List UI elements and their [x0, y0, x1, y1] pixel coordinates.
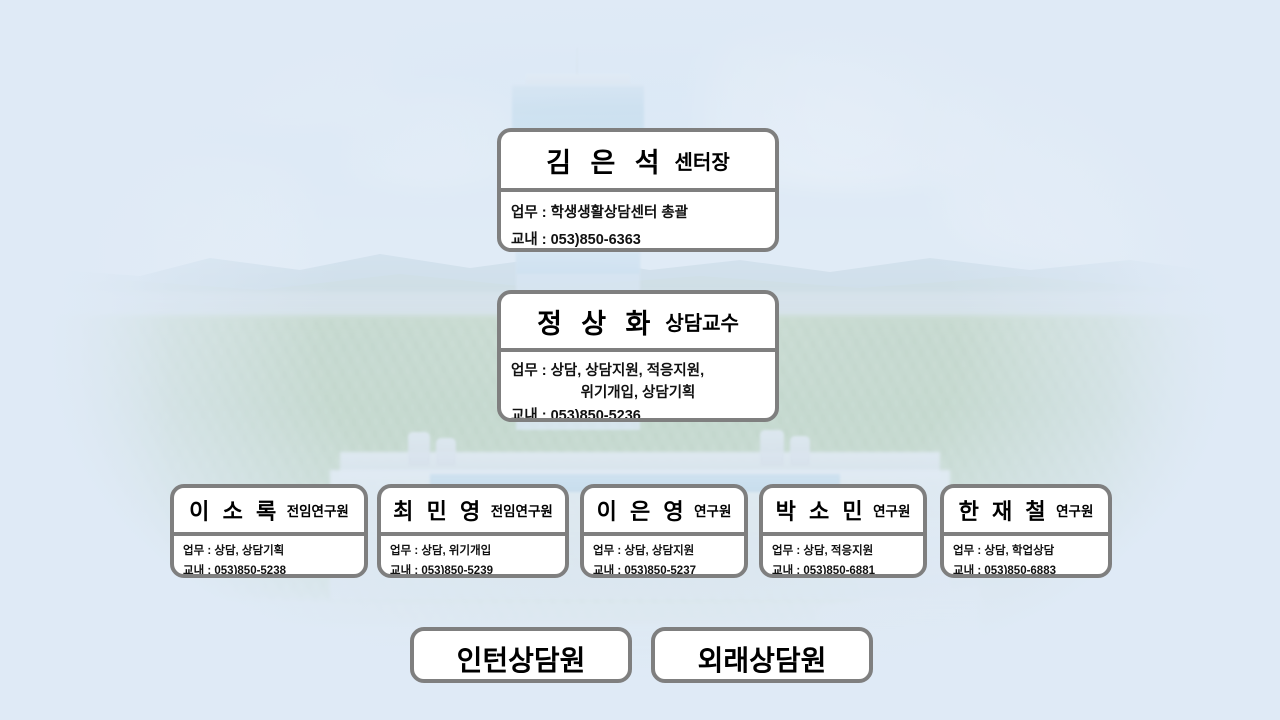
phone-line: 교내 : 053)850-5239 [390, 561, 556, 578]
phone-line: 교내 : 053)850-6363 [511, 227, 765, 252]
org-node-header: 최 민 영 전임연구원 [381, 488, 565, 532]
person-name: 최 민 영 [393, 494, 484, 526]
person-role: 센터장 [675, 146, 730, 175]
person-role: 연구원 [873, 500, 910, 520]
org-node-researcher-3[interactable]: 이 은 영 연구원 업무 : 상담, 상담지원 교내 : 053)850-523… [580, 484, 748, 578]
org-node-details: 업무 : 상담, 위기개입 교내 : 053)850-5239 [381, 536, 565, 578]
org-node-details: 업무 : 상담, 적응지원 교내 : 053)850-6881 [763, 536, 923, 578]
org-node-label: 외래상담원 [655, 631, 869, 683]
org-node-details: 업무 : 상담, 상담지원 교내 : 053)850-5237 [584, 536, 744, 578]
org-node-header: 김 은 석 센터장 [501, 132, 775, 188]
org-node-director[interactable]: 김 은 석 센터장 업무 : 학생생활상담센터 총괄 교내 : 053)850-… [497, 128, 779, 252]
phone-line: 교내 : 053)850-5237 [593, 561, 735, 578]
phone-line: 교내 : 053)850-5236 [511, 405, 765, 422]
person-role: 연구원 [1056, 500, 1093, 520]
person-role: 전임연구원 [287, 500, 349, 520]
duty-line: 업무 : 학생생활상담센터 총괄 [511, 200, 765, 227]
duty-line: 업무 : 상담, 학업상담 [953, 541, 1099, 561]
org-node-intern-counselor[interactable]: 인턴상담원 [410, 627, 632, 683]
person-role: 상담교수 [665, 307, 739, 336]
person-name: 이 소 록 [189, 494, 280, 526]
org-node-header: 이 소 록 전임연구원 [174, 488, 364, 532]
org-node-external-counselor[interactable]: 외래상담원 [651, 627, 873, 683]
org-node-details: 업무 : 학생생활상담센터 총괄 교내 : 053)850-6363 [501, 192, 775, 252]
person-role: 연구원 [694, 500, 731, 520]
org-node-professor[interactable]: 정 상 화 상담교수 업무 : 상담, 상담지원, 적응지원, 위기개입, 상담… [497, 290, 779, 422]
phone-line: 교내 : 053)850-6881 [772, 561, 914, 578]
person-role: 전임연구원 [491, 500, 553, 520]
org-chart-page: 김 은 석 센터장 업무 : 학생생활상담센터 총괄 교내 : 053)850-… [0, 0, 1280, 720]
org-node-header: 정 상 화 상담교수 [501, 294, 775, 348]
org-node-details: 업무 : 상담, 상담지원, 적응지원, 위기개입, 상담기획 교내 : 053… [501, 352, 775, 422]
org-node-details: 업무 : 상담, 상담기획 교내 : 053)850-5238 [174, 536, 364, 578]
phone-line: 교내 : 053)850-5238 [183, 561, 355, 578]
duty-line-2: 위기개입, 상담기획 [511, 382, 765, 404]
person-name: 이 은 영 [597, 494, 688, 526]
duty-line: 업무 : 상담, 상담기획 [183, 541, 355, 561]
org-node-header: 박 소 민 연구원 [763, 488, 923, 532]
duty-line: 업무 : 상담, 상담지원, 적응지원, [511, 360, 765, 382]
person-name: 김 은 석 [546, 141, 665, 180]
org-node-researcher-5[interactable]: 한 재 철 연구원 업무 : 상담, 학업상담 교내 : 053)850-688… [940, 484, 1112, 578]
org-node-researcher-1[interactable]: 이 소 록 전임연구원 업무 : 상담, 상담기획 교내 : 053)850-5… [170, 484, 368, 578]
person-name: 박 소 민 [776, 494, 867, 526]
phone-line: 교내 : 053)850-6883 [953, 561, 1099, 578]
org-node-researcher-2[interactable]: 최 민 영 전임연구원 업무 : 상담, 위기개입 교내 : 053)850-5… [377, 484, 569, 578]
person-name: 정 상 화 [537, 302, 656, 341]
org-node-researcher-4[interactable]: 박 소 민 연구원 업무 : 상담, 적응지원 교내 : 053)850-688… [759, 484, 927, 578]
org-node-header: 한 재 철 연구원 [944, 488, 1108, 532]
org-node-label: 인턴상담원 [414, 631, 628, 683]
duty-line: 업무 : 상담, 상담지원 [593, 541, 735, 561]
person-name: 한 재 철 [959, 494, 1050, 526]
duty-line: 업무 : 상담, 위기개입 [390, 541, 556, 561]
duty-line: 업무 : 상담, 적응지원 [772, 541, 914, 561]
org-node-header: 이 은 영 연구원 [584, 488, 744, 532]
org-node-details: 업무 : 상담, 학업상담 교내 : 053)850-6883 [944, 536, 1108, 578]
